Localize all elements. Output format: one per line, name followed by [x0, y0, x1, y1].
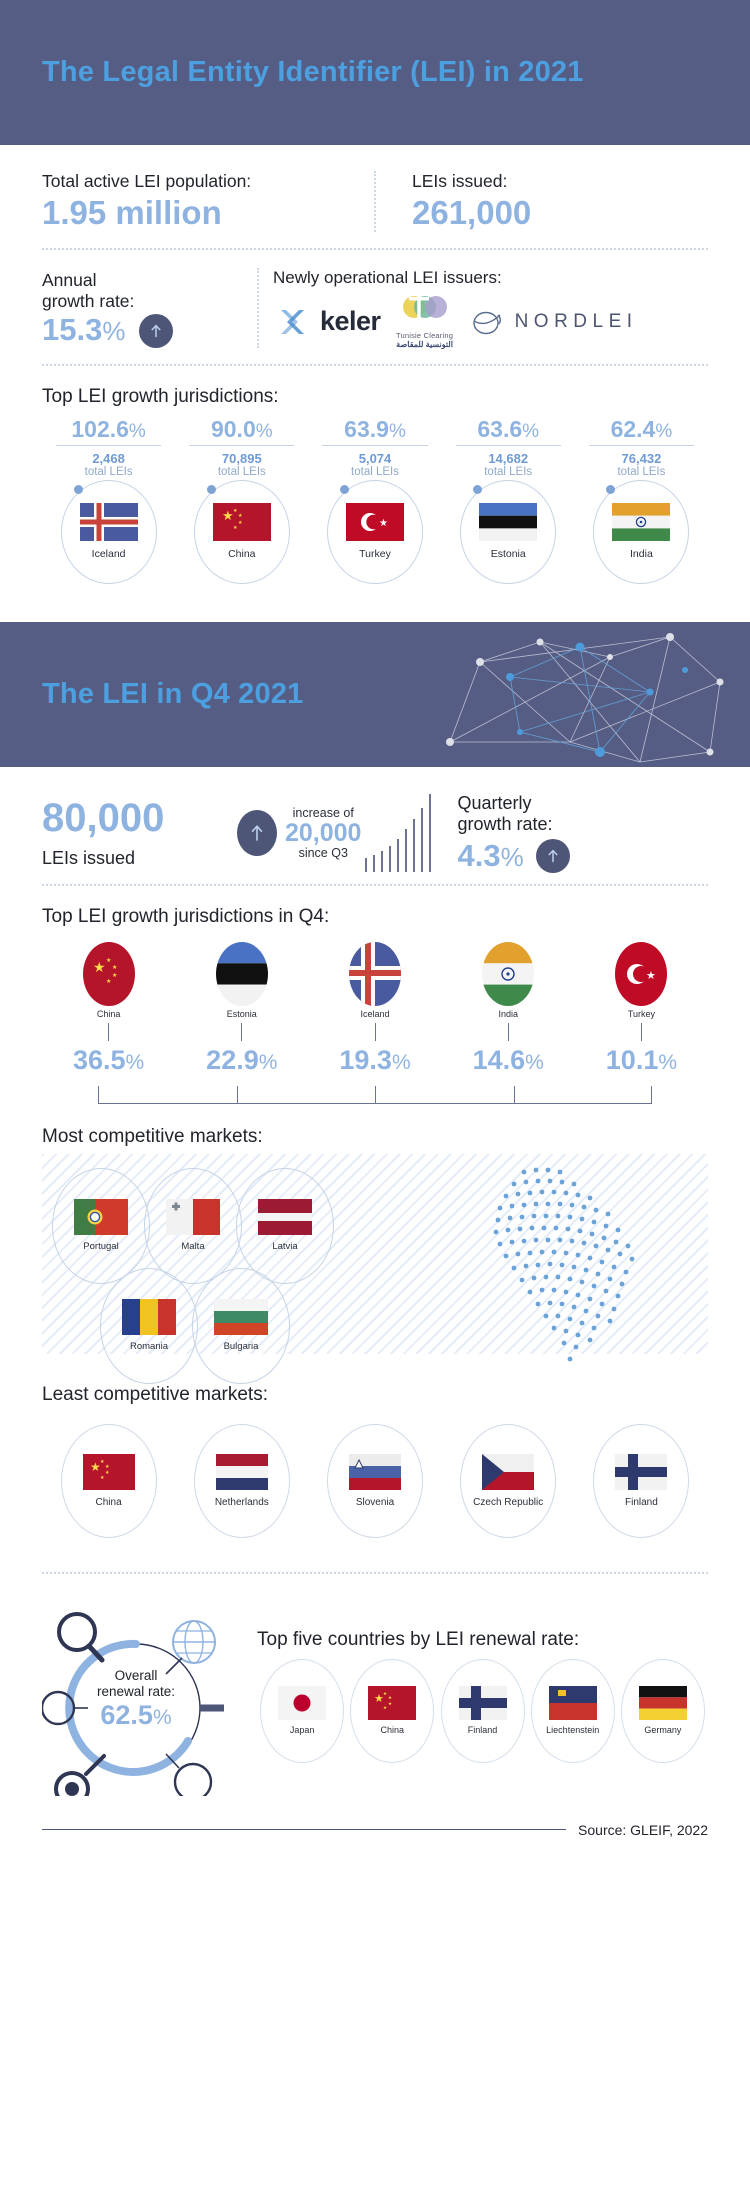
ring-dot-icon	[606, 485, 615, 494]
footer-rule	[42, 1829, 566, 1830]
country-ring: Latvia	[236, 1168, 334, 1284]
country-ring: Finland	[593, 1424, 689, 1538]
flag-netherlands-icon	[216, 1454, 268, 1490]
country-ring: Estonia	[460, 480, 556, 584]
rule	[589, 445, 694, 446]
stat-label: Total active LEI population:	[42, 171, 338, 192]
q4-leis-issued-caption: LEIs issued	[42, 848, 237, 869]
country-name: China	[42, 1009, 175, 1019]
section2-content: 80,000 LEIs issued increase of 20,000 si…	[0, 767, 750, 1796]
stat-label: LEIs issued:	[412, 171, 708, 192]
jurisdiction-item: 102.6% 2,468 total LEIs Iceland	[42, 416, 175, 584]
renewal-country-list: Japan ★★★★★ China	[257, 1659, 708, 1763]
country-ring: India	[593, 480, 689, 584]
country-name: Malta	[181, 1241, 204, 1252]
bracket-tick	[514, 1086, 515, 1104]
svg-text:★: ★	[106, 957, 111, 964]
percent-symbol: %	[658, 1051, 677, 1074]
value: 62.4	[611, 416, 656, 442]
ring-dot-icon	[207, 485, 216, 494]
jurisdiction-total-leis: 2,468	[42, 451, 175, 466]
bracket-tick	[98, 1086, 99, 1104]
country-name: China	[381, 1725, 405, 1735]
jurisdiction-item: 63.9% 5,074 total LEIs ★ Turkey	[308, 416, 441, 584]
renewal-country-item: Japan	[257, 1659, 347, 1763]
country-name: Iceland	[308, 1009, 441, 1019]
svg-text:★: ★	[100, 1475, 105, 1481]
rule	[189, 445, 294, 446]
jurisdiction-growth-pct: 63.6%	[442, 416, 575, 443]
nordlei-wordmark: NORDLEI	[515, 311, 638, 333]
country-oval	[216, 942, 268, 1006]
percent-symbol: %	[153, 1706, 172, 1729]
renewal-label-line2: renewal rate:	[78, 1684, 194, 1700]
percent-symbol: %	[126, 1051, 145, 1074]
country-ring: Liechtenstein	[531, 1659, 615, 1763]
percent-symbol: %	[655, 421, 672, 442]
percent-symbol: %	[102, 316, 125, 346]
up-arrow-icon	[536, 839, 570, 873]
flag-japan-icon	[278, 1686, 326, 1720]
country-ring: Finland	[441, 1659, 525, 1763]
svg-text:★: ★	[112, 972, 117, 979]
country-name: Germany	[644, 1725, 681, 1735]
country-name: Slovenia	[356, 1497, 394, 1508]
least-competitive-item: Czech Republic	[442, 1424, 575, 1538]
flag-china-icon: ★★★★★	[368, 1686, 416, 1720]
growth-sparkline-icon	[365, 794, 431, 872]
top-growth-jurisdictions-heading: Top LEI growth jurisdictions:	[42, 366, 708, 416]
country-ring: ★ Turkey	[327, 480, 423, 584]
svg-text:★: ★	[238, 513, 243, 519]
country-ring: Bulgaria	[192, 1268, 290, 1384]
jurisdiction-growth-pct: 102.6%	[42, 416, 175, 443]
country-name: China	[96, 1497, 122, 1508]
page-title: The Legal Entity Identifier (LEI) in 202…	[0, 56, 584, 89]
renewal-donut-graphic: Overall renewal rate: 62.5%	[42, 1596, 257, 1796]
jurisdiction-total-label: total LEIs	[175, 466, 308, 478]
most-competitive-circles: Portugal Malta Latvia	[52, 1168, 352, 1384]
annual-growth-label-line2: growth rate:	[42, 291, 245, 312]
connector-tick	[108, 1023, 109, 1041]
svg-text:★: ★	[383, 1691, 387, 1697]
q4-quarterly-label-line1: Quarterly	[457, 793, 569, 815]
jurisdiction-total-label: total LEIs	[575, 466, 708, 478]
empty-circle-icon	[175, 1764, 211, 1796]
country-ring: Romania	[100, 1268, 198, 1384]
country-name: Finland	[625, 1497, 658, 1508]
tunisie-clearing-mark-icon	[395, 294, 455, 326]
q4-quarterly-label-line2: growth rate:	[457, 814, 569, 836]
source-footer: Source: GLEIF, 2022	[0, 1822, 750, 1838]
percent-symbol: %	[389, 421, 406, 442]
divider	[42, 1572, 708, 1574]
svg-text:★: ★	[222, 509, 234, 524]
up-arrow-icon	[237, 810, 277, 856]
keler-wordmark: keler	[320, 306, 381, 337]
value: 4.3	[457, 838, 500, 873]
flag-iceland-icon	[349, 942, 401, 1006]
q4-jurisdiction-item: ★ Turkey 10.1%	[575, 942, 708, 1076]
section2-title: The LEI in Q4 2021	[0, 678, 303, 711]
value: 19.3	[339, 1045, 392, 1075]
flag-iceland-icon	[80, 503, 138, 541]
country-oval	[349, 942, 401, 1006]
annual-growth-rate: Annual growth rate: 15.3%	[42, 270, 257, 347]
flag-india-icon	[482, 942, 534, 1006]
connector-tick	[241, 1023, 242, 1041]
annual-growth-and-issuers: Annual growth rate: 15.3% Newly operatio…	[42, 250, 708, 364]
q4-growth-pct: 10.1%	[575, 1045, 708, 1076]
renewal-top-countries: Top five countries by LEI renewal rate: …	[257, 1629, 708, 1763]
headline-stats: Total active LEI population: 1.95 millio…	[42, 145, 708, 248]
flag-slovenia-icon	[349, 1454, 401, 1490]
tunisie-clearing-logo: Tunisie Clearing التونسية للمقاصة	[395, 294, 455, 349]
country-name: Iceland	[92, 548, 126, 560]
svg-text:★: ★	[112, 964, 117, 971]
country-name: Netherlands	[215, 1497, 269, 1508]
value: 62.5	[100, 1700, 153, 1730]
jurisdiction-total-label: total LEIs	[42, 466, 175, 478]
stat-value: 1.95 million	[42, 194, 338, 232]
country-name: Estonia	[175, 1009, 308, 1019]
country-ring: Malta	[144, 1168, 242, 1284]
country-ring: Germany	[621, 1659, 705, 1763]
q4-growth-pct: 22.9%	[175, 1045, 308, 1076]
percent-symbol: %	[522, 421, 539, 442]
percent-symbol: %	[259, 1051, 278, 1074]
flag-china-icon: ★★★★★	[83, 942, 135, 1006]
issuers-logo-row: keler Tunisie Clearing التونسية للمقاصة	[273, 296, 708, 348]
q4-jurisdiction-item: Iceland 19.3%	[308, 942, 441, 1076]
least-competitive-item: Finland	[575, 1424, 708, 1538]
q4-increase-line1: increase of	[285, 806, 361, 820]
country-ring: ★★★★★ China	[61, 1424, 157, 1538]
percent-symbol: %	[501, 842, 524, 872]
jurisdiction-item: 63.6% 14,682 total LEIs Estonia	[442, 416, 575, 584]
flag-germany-icon	[639, 1686, 687, 1720]
value: 63.9	[344, 416, 389, 442]
country-name: China	[228, 548, 255, 560]
country-ring: Slovenia	[327, 1424, 423, 1538]
new-issuers-block: Newly operational LEI issuers: keler	[259, 268, 708, 348]
q4-jurisdiction-item: ★★★★★ China 36.5%	[42, 942, 175, 1076]
annual-growth-label-line1: Annual	[42, 270, 245, 291]
svg-text:★: ★	[105, 1470, 110, 1476]
svg-text:★: ★	[388, 1701, 392, 1707]
rule	[456, 445, 561, 446]
country-name: Turkey	[575, 1009, 708, 1019]
flag-portugal-icon	[74, 1199, 128, 1235]
country-ring: ★★★★★ China	[350, 1659, 434, 1763]
country-name: Portugal	[83, 1241, 118, 1252]
country-name: Estonia	[491, 548, 526, 560]
most-competitive-row-1: Portugal Malta Latvia	[52, 1168, 352, 1284]
country-name: Turkey	[359, 548, 391, 560]
ring-dot-icon	[74, 485, 83, 494]
connector-tick	[641, 1023, 642, 1041]
country-ring: Netherlands	[194, 1424, 290, 1538]
flag-estonia-icon	[479, 503, 537, 541]
jurisdiction-total-label: total LEIs	[308, 466, 441, 478]
q4-growth-pct: 19.3%	[308, 1045, 441, 1076]
most-competitive-markets: Most competitive markets:	[42, 1126, 708, 1354]
svg-text:★: ★	[106, 978, 111, 985]
renewal-country-item: Germany	[618, 1659, 708, 1763]
most-competitive-row-2: Romania Bulgaria	[100, 1268, 352, 1384]
q4-jurisdictions-heading: Top LEI growth jurisdictions in Q4:	[42, 886, 708, 936]
bracket-tick	[375, 1086, 376, 1104]
keler-mark-icon	[273, 302, 313, 342]
country-oval: ★	[615, 942, 667, 1006]
jurisdiction-growth-pct: 63.9%	[308, 416, 441, 443]
renewal-rate-value: 62.5%	[78, 1700, 194, 1731]
q4-quarterly-growth: Quarterly growth rate: 4.3%	[457, 793, 569, 874]
source-text: Source: GLEIF, 2022	[578, 1822, 708, 1838]
least-competitive-item: ★★★★★ China	[42, 1424, 175, 1538]
jurisdiction-total-leis: 5,074	[308, 451, 441, 466]
bracket-tick	[237, 1086, 238, 1104]
q4-increase-block: increase of 20,000 since Q3	[285, 806, 361, 860]
q4-headline-stats: 80,000 LEIs issued increase of 20,000 si…	[42, 767, 708, 884]
country-name: Japan	[290, 1725, 315, 1735]
q4-jurisdiction-item: India 14.6%	[442, 942, 575, 1076]
section1-header-band: The Legal Entity Identifier (LEI) in 202…	[0, 0, 750, 145]
flag-liechtenstein-icon	[549, 1686, 597, 1720]
q4-jurisdiction-item: Estonia 22.9%	[175, 942, 308, 1076]
connector-tick	[375, 1023, 376, 1041]
least-competitive-list: ★★★★★ China Netherlands Slovenia	[42, 1424, 708, 1538]
nordlei-globe-icon	[469, 306, 507, 338]
svg-text:★: ★	[379, 518, 388, 529]
country-name: India	[630, 548, 653, 560]
tunisie-clearing-latin: Tunisie Clearing	[395, 331, 455, 340]
country-ring: Iceland	[61, 480, 157, 584]
keler-logo: keler	[273, 302, 381, 342]
tunisie-clearing-arabic: التونسية للمقاصة	[395, 340, 455, 349]
svg-text:★: ★	[238, 520, 243, 526]
renewal-heading: Top five countries by LEI renewal rate:	[257, 1629, 708, 1651]
country-name: Finland	[468, 1725, 498, 1735]
most-competitive-heading: Most competitive markets:	[42, 1126, 271, 1154]
flag-romania-icon	[122, 1299, 176, 1335]
jurisdiction-item: 90.0% 70,895 total LEIs ★★★★★ China	[175, 416, 308, 584]
value: 36.5	[73, 1045, 126, 1075]
section2-header-band: The LEI in Q4 2021	[0, 622, 750, 767]
stat-leis-issued: LEIs issued: 261,000	[376, 171, 708, 232]
renewal-country-item: ★★★★★ China	[347, 1659, 437, 1763]
country-name: Latvia	[272, 1241, 297, 1252]
country-name: Bulgaria	[224, 1341, 259, 1352]
jurisdiction-item: 62.4% 76,432 total LEIs India	[575, 416, 708, 584]
jurisdiction-total-label: total LEIs	[442, 466, 575, 478]
q4-leis-issued: 80,000 LEIs issued	[42, 798, 237, 869]
percent-symbol: %	[525, 1051, 544, 1074]
percent-symbol: %	[129, 421, 146, 442]
renewal-country-item: Finland	[437, 1659, 527, 1763]
least-competitive-item: Netherlands	[175, 1424, 308, 1538]
svg-text:★: ★	[93, 960, 106, 976]
flag-latvia-icon	[258, 1199, 312, 1235]
jurisdiction-bracket	[98, 1078, 652, 1104]
rule	[322, 445, 427, 446]
stat-total-active-lei: Total active LEI population: 1.95 millio…	[42, 171, 374, 232]
q4-jurisdictions-list: ★★★★★ China 36.5% Estonia 22.9%	[42, 942, 708, 1076]
annual-growth-number: 15.3	[42, 312, 102, 347]
jurisdiction-total-leis: 14,682	[442, 451, 575, 466]
section1-content: Total active LEI population: 1.95 millio…	[0, 145, 750, 584]
flag-india-icon	[612, 503, 670, 541]
globe-icon	[173, 1621, 215, 1663]
percent-symbol: %	[256, 421, 273, 442]
nordlei-logo: NORDLEI	[469, 306, 638, 338]
jurisdiction-total-leis: 76,432	[575, 451, 708, 466]
value: 22.9	[206, 1045, 259, 1075]
country-name: Liechtenstein	[546, 1725, 599, 1735]
country-name: Romania	[130, 1341, 168, 1352]
country-ring: ★★★★★ China	[194, 480, 290, 584]
stat-value: 261,000	[412, 194, 708, 232]
flag-finland-icon	[615, 1454, 667, 1490]
svg-text:★: ★	[388, 1695, 392, 1701]
country-name: Czech Republic	[473, 1497, 543, 1508]
issuers-heading: Newly operational LEI issuers:	[273, 268, 708, 288]
up-arrow-icon	[139, 314, 173, 348]
country-ring: Czech Republic	[460, 1424, 556, 1538]
least-competitive-item: Slovenia	[308, 1424, 441, 1538]
renewal-donut-text: Overall renewal rate: 62.5%	[78, 1668, 194, 1731]
country-ring: Japan	[260, 1659, 344, 1763]
value: 10.1	[606, 1045, 659, 1075]
country-name: India	[442, 1009, 575, 1019]
q4-quarterly-growth-value: 4.3%	[457, 838, 523, 874]
jurisdiction-growth-pct: 90.0%	[175, 416, 308, 443]
dotted-globe-icon	[374, 1112, 714, 1402]
flag-turkey-icon: ★	[346, 503, 404, 541]
ring-dot-icon	[340, 485, 349, 494]
country-oval: ★★★★★	[83, 942, 135, 1006]
flag-turkey-icon: ★	[615, 942, 667, 1006]
flag-china-icon: ★★★★★	[213, 503, 271, 541]
connector-tick	[508, 1023, 509, 1041]
svg-text:★: ★	[233, 525, 238, 531]
renewal-country-item: Liechtenstein	[528, 1659, 618, 1763]
flag-bulgaria-icon	[214, 1299, 268, 1335]
flag-china-icon: ★★★★★	[83, 1454, 135, 1490]
value: 14.6	[473, 1045, 526, 1075]
jurisdiction-growth-pct: 62.4%	[575, 416, 708, 443]
value: 102.6	[71, 416, 129, 442]
renewal-section: Overall renewal rate: 62.5% Top five cou…	[42, 1596, 708, 1796]
rule	[56, 445, 161, 446]
country-oval	[482, 942, 534, 1006]
q4-growth-pct: 36.5%	[42, 1045, 175, 1076]
svg-text:★: ★	[646, 969, 656, 982]
flag-finland-icon	[459, 1686, 507, 1720]
value: 63.6	[477, 416, 522, 442]
q4-increase-value: 20,000	[285, 820, 361, 846]
svg-text:★: ★	[383, 1705, 387, 1711]
country-ring: Portugal	[52, 1168, 150, 1284]
ring-dot-icon	[473, 485, 482, 494]
jurisdiction-total-leis: 70,895	[175, 451, 308, 466]
q4-increase-line3: since Q3	[285, 846, 361, 860]
flag-malta-icon	[166, 1199, 220, 1235]
top-growth-jurisdictions-list: 102.6% 2,468 total LEIs Iceland 90.0% 70…	[42, 416, 708, 584]
flag-czech-republic-icon	[482, 1454, 534, 1490]
bracket-tick	[651, 1086, 652, 1104]
annual-growth-value: 15.3%	[42, 313, 125, 347]
flag-estonia-icon	[216, 942, 268, 1006]
network-graphic-icon	[420, 622, 750, 767]
q4-leis-issued-value: 80,000	[42, 798, 237, 838]
hatch-panel: Portugal Malta Latvia	[42, 1154, 708, 1354]
renewal-label-line1: Overall	[78, 1668, 194, 1684]
value: 90.0	[211, 416, 256, 442]
q4-growth-pct: 14.6%	[442, 1045, 575, 1076]
percent-symbol: %	[392, 1051, 411, 1074]
